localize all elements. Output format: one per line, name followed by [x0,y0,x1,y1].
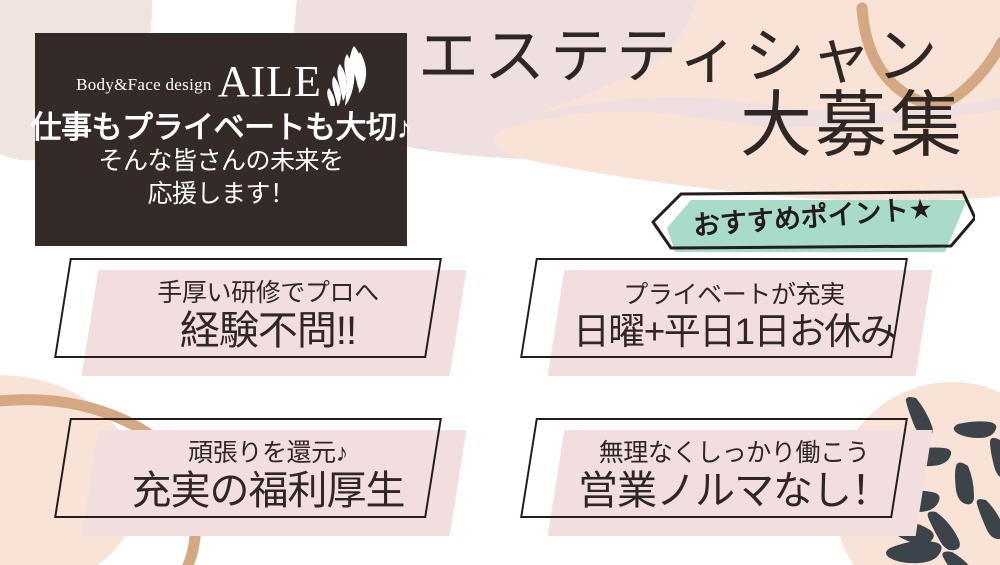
recruitment-banner: Body&Face design AILE 仕事もプライベートも大切♪ そんな皆… [0,0,1000,565]
page-title: エステティシャン 大募集 [418,22,983,166]
feature-box: プライベートが充実 日曜+平日1日お休み [528,258,928,376]
feature-subtitle: プライベートが充実 [623,282,844,310]
feature-headline: 営業ノルマなし！ [578,469,890,514]
logo-card: Body&Face design AILE 仕事もプライベートも大切♪ そんな皆… [35,33,407,246]
feature-text: 頑張りを還元♪ 充実の福利厚生 [62,418,462,536]
feature-box: 手厚い研修でプロへ 経験不問!! [62,258,462,376]
feature-subtitle: 頑張りを還元♪ [188,440,348,468]
feature-subtitle: 無理なくしっかり働こう [599,440,870,468]
brand-prefix: Body&Face design [76,75,212,95]
brand-name: AILE [218,60,322,104]
feature-box: 頑張りを還元♪ 充実の福利厚生 [62,418,462,536]
feature-text: プライベートが充実 日曜+平日1日お休み [528,258,928,376]
feature-headline: 日曜+平日1日お休み [573,311,895,352]
feature-text: 無理なくしっかり働こう 営業ノルマなし！ [528,418,928,536]
logo-line-1: そんな皆さんの未来を [98,145,343,178]
logo-row: Body&Face design AILE [35,55,407,107]
headline-line-2: 大募集 [418,88,983,166]
logo-line-2: 応援します！ [147,178,294,211]
feature-headline: 充実の福利厚生 [132,469,405,514]
logo-tagline: 仕事もプライベートも大切♪ [31,111,412,145]
recommended-points-ribbon: おすすめポイント★ [645,190,975,262]
feature-box: 無理なくしっかり働こう 営業ノルマなし！ [528,418,928,536]
feather-wing-icon [324,44,370,106]
feature-subtitle: 手厚い研修でプロへ [157,280,378,308]
feature-headline: 経験不問!! [180,309,356,354]
feature-text: 手厚い研修でプロへ 経験不問!! [62,258,462,376]
headline-line-1: エステティシャン [418,22,983,90]
